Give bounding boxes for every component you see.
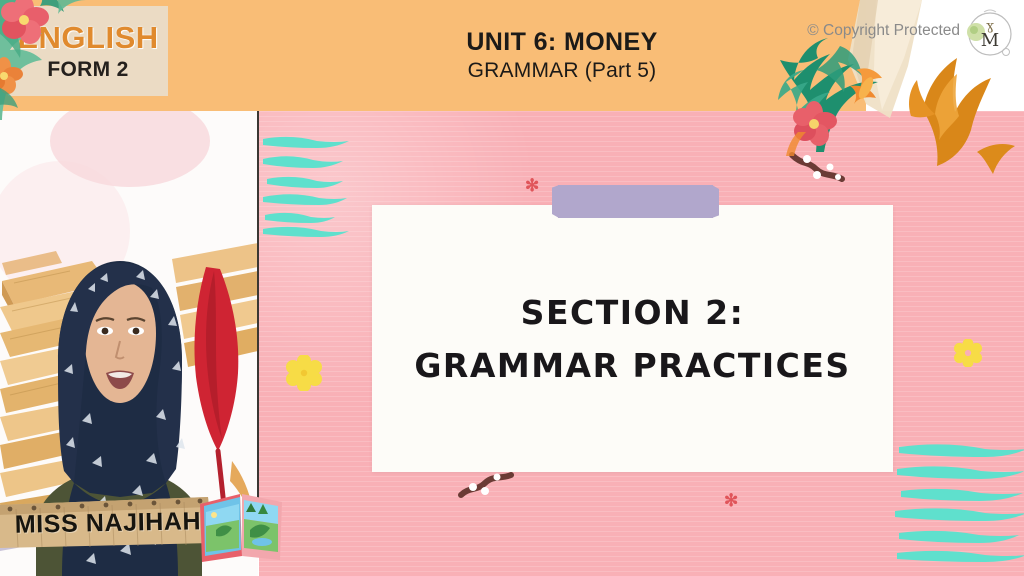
amber-leaves-top-right [905,48,1023,178]
section-subheading: GRAMMAR PRACTICES [414,346,850,385]
yellow-flower-left-icon [286,355,322,391]
washi-tape-decor [558,185,713,218]
panel-divider [257,111,259,514]
asterisk-bottom-center-decor: ✻ [724,492,738,509]
unit-subtitle: GRAMMAR (Part 5) [468,59,657,83]
teal-lines-top-left [261,133,371,238]
copyright-notice: © Copyright Protected [807,22,960,40]
asterisk-top-left-decor: ✻ [525,177,539,194]
section-heading: SECTION 2: [521,293,745,332]
presenter-name: MISS NAJIHAH [10,503,207,543]
squiggle-bottom-left-decor [455,469,517,505]
slide-stage: ENGLISH FORM 2 UNIT 6: MONEY GRAMMAR (Pa… [0,0,1024,576]
tropical-leaves-top-left [0,0,90,120]
brand-logo-icon: ɣ M [962,8,1014,60]
svg-text:M: M [981,30,999,51]
content-card-text: SECTION 2: GRAMMAR PRACTICES [372,205,893,472]
unit-title: UNIT 6: MONEY [466,28,657,57]
yellow-flower-right-icon [954,339,982,367]
open-book-icon [196,486,286,568]
tropical-leaves-top-right [770,36,890,158]
content-card: SECTION 2: GRAMMAR PRACTICES [372,205,893,472]
